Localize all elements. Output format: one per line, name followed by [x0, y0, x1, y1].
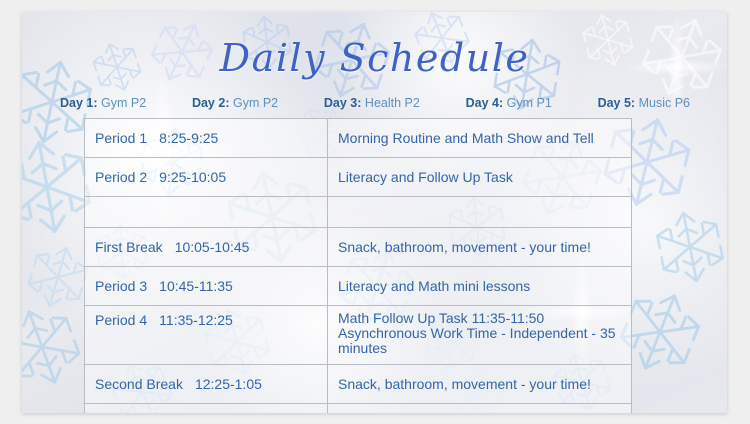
day-2-value: Gym P2	[233, 96, 278, 110]
row-4-desc-cell: Literacy and Math mini lessons	[328, 267, 632, 306]
row-3-label-cell: First Break10:05-10:45	[85, 228, 328, 267]
day-3-label: Day 3	[324, 96, 357, 110]
row-3-desc-line-0: Snack, bathroom, movement - your time!	[338, 240, 621, 255]
row-5-desc-line-2: minutes	[338, 341, 621, 356]
day-5-value: Music P6	[639, 96, 690, 110]
row-7-desc-cell: Asynchronous Work Time, Online Support 2…	[328, 404, 632, 414]
day-item-3: Day 3: Health P2	[324, 96, 420, 110]
table-row-spacer	[85, 197, 632, 228]
row-6-name: Second Break	[95, 376, 183, 392]
row-5-desc-line-0: Math Follow Up Task 11:35-11:50	[338, 311, 621, 326]
row-5-label-cell: Period 411:35-12:25	[85, 306, 328, 365]
row-6-desc-line-0: Snack, bathroom, movement - your time!	[338, 377, 621, 392]
row-3-desc-cell: Snack, bathroom, movement - your time!	[328, 228, 632, 267]
row-1-desc-line-0: Literacy and Follow Up Task	[338, 170, 621, 185]
row-6-time: 12:25-1:05	[183, 376, 262, 392]
row-0-time: 8:25-9:25	[147, 130, 218, 146]
page-canvas: Daily Schedule Day 1: Gym P2 Day 2: Gym …	[0, 0, 750, 424]
row-3-name: First Break	[95, 239, 163, 255]
row-4-desc-line-0: Literacy and Math mini lessons	[338, 279, 621, 294]
row-0-desc-cell: Morning Routine and Math Show and Tell	[328, 119, 632, 158]
table-row: Period 411:35-12:25 Math Follow Up Task …	[85, 306, 632, 365]
page-title: Daily Schedule	[22, 36, 727, 80]
table-row: Second Break12:25-1:05 Snack, bathroom, …	[85, 365, 632, 404]
days-rotation-row: Day 1: Gym P2 Day 2: Gym P2 Day 3: Healt…	[60, 96, 690, 110]
table-row: Period 29:25-10:05 Literacy and Follow U…	[85, 158, 632, 197]
day-item-5: Day 5: Music P6	[598, 96, 690, 110]
row-6-label-cell: Second Break12:25-1:05	[85, 365, 328, 404]
schedule-table: Period 18:25-9:25 Morning Routine and Ma…	[84, 118, 632, 413]
day-1-label: Day 1	[60, 96, 93, 110]
row-0-desc-line-0: Morning Routine and Math Show and Tell	[338, 131, 621, 146]
row-5-name: Period 4	[95, 312, 147, 328]
row-2-label-cell	[85, 197, 328, 228]
day-3-separator: :	[357, 96, 361, 110]
day-4-label: Day 4	[466, 96, 499, 110]
row-2-desc-cell	[328, 197, 632, 228]
day-3-value: Health P2	[365, 96, 420, 110]
row-4-label-cell: Period 310:45-11:35	[85, 267, 328, 306]
day-2-label: Day 2	[192, 96, 225, 110]
table-row: First Break10:05-10:45 Snack, bathroom, …	[85, 228, 632, 267]
row-7-label-cell: Period 51:05-1:45	[85, 404, 328, 414]
row-4-name: Period 3	[95, 278, 147, 294]
day-4-value: Gym P1	[507, 96, 552, 110]
day-5-label: Day 5	[598, 96, 631, 110]
day-2-separator: :	[225, 96, 229, 110]
row-5-desc-cell: Math Follow Up Task 11:35-11:50 Asynchro…	[328, 306, 632, 365]
row-4-time: 10:45-11:35	[147, 278, 233, 294]
row-1-time: 9:25-10:05	[147, 169, 226, 185]
table-row: Period 51:05-1:45 Asynchronous Work Time…	[85, 404, 632, 414]
day-item-1: Day 1: Gym P2	[60, 96, 146, 110]
row-0-label-cell: Period 18:25-9:25	[85, 119, 328, 158]
day-1-separator: :	[93, 96, 97, 110]
day-1-value: Gym P2	[101, 96, 146, 110]
row-0-name: Period 1	[95, 130, 147, 146]
row-1-label-cell: Period 29:25-10:05	[85, 158, 328, 197]
schedule-table-body: Period 18:25-9:25 Morning Routine and Ma…	[85, 119, 632, 414]
row-6-desc-cell: Snack, bathroom, movement - your time!	[328, 365, 632, 404]
row-5-time: 11:35-12:25	[147, 312, 233, 328]
day-item-2: Day 2: Gym P2	[192, 96, 278, 110]
presentation-slide: Daily Schedule Day 1: Gym P2 Day 2: Gym …	[22, 12, 727, 413]
day-4-separator: :	[499, 96, 503, 110]
row-3-time: 10:05-10:45	[163, 239, 250, 255]
row-1-name: Period 2	[95, 169, 147, 185]
day-5-separator: :	[631, 96, 635, 110]
row-1-desc-cell: Literacy and Follow Up Task	[328, 158, 632, 197]
row-5-desc-line-1: Asynchronous Work Time - Independent - 3…	[338, 326, 621, 341]
table-row: Period 310:45-11:35 Literacy and Math mi…	[85, 267, 632, 306]
day-item-4: Day 4: Gym P1	[466, 96, 552, 110]
table-row: Period 18:25-9:25 Morning Routine and Ma…	[85, 119, 632, 158]
